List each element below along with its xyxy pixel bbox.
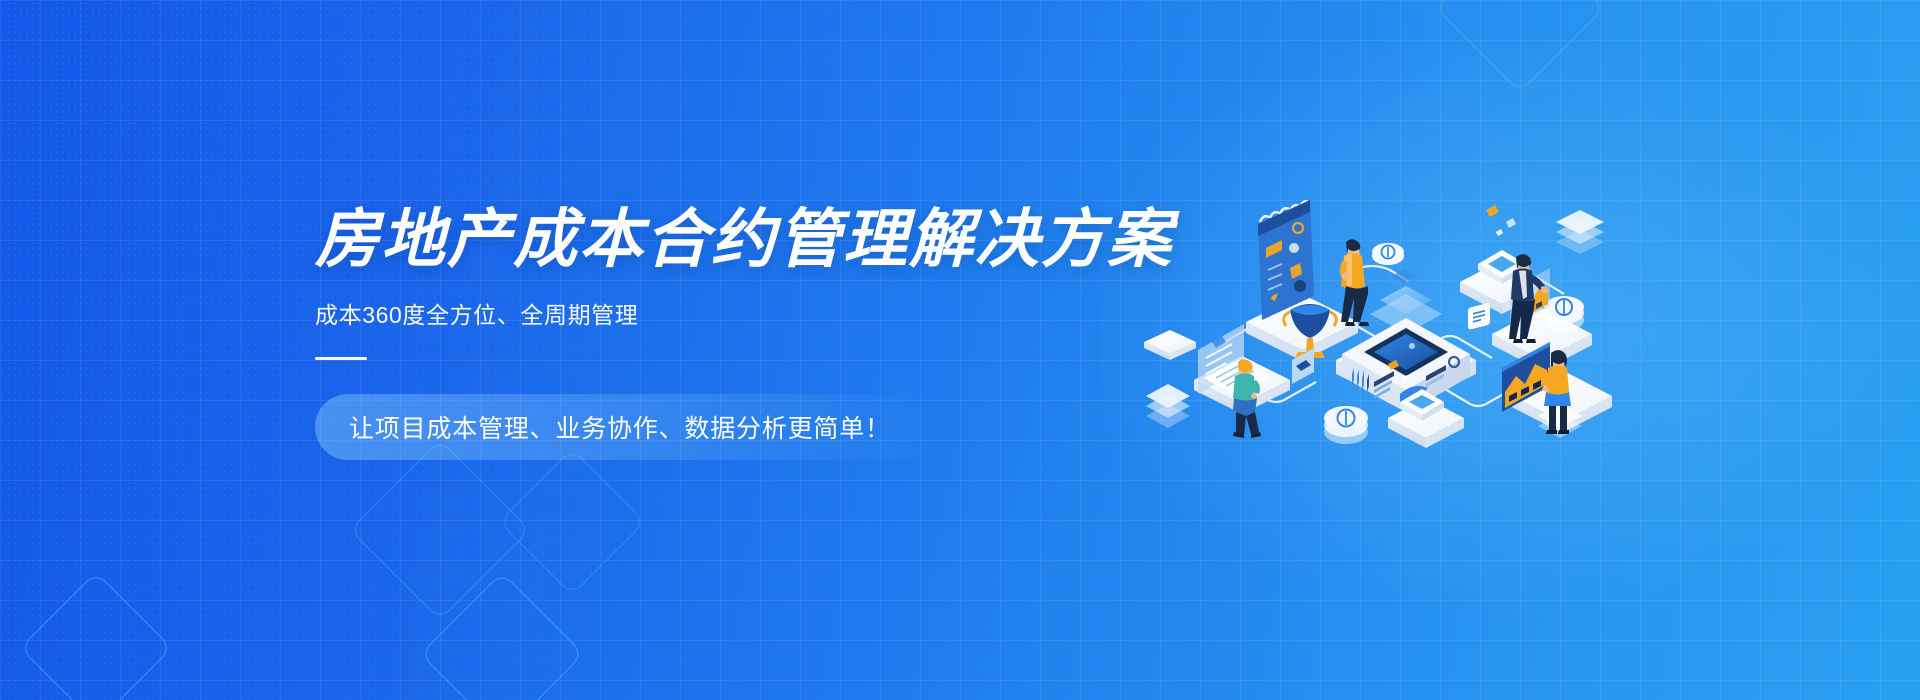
hero-copy-block: 房地产成本合约管理解决方案 成本360度全方位、全周期管理 让项目成本管理、业务… [315, 206, 1275, 460]
page-title: 房地产成本合约管理解决方案 [315, 206, 1275, 274]
diamond-outline-icon-4 [498, 448, 645, 595]
divider [315, 357, 367, 360]
person-standing-orange [1340, 239, 1369, 326]
note-card-icon [1468, 303, 1490, 330]
diamond-outline-icon-5 [1435, 0, 1605, 93]
tagline-badge: 让项目成本管理、业务协作、数据分析更简单！ [315, 394, 943, 460]
hero-banner: 房地产成本合约管理解决方案 成本360度全方位、全周期管理 让项目成本管理、业务… [0, 0, 1920, 700]
diamond-outline-icon-1 [20, 572, 173, 700]
dollar-coin-stack [1372, 243, 1404, 265]
isometric-cost-management-illustration [1140, 150, 1620, 450]
floating-sheet-stack [1556, 210, 1604, 254]
page-subtitle: 成本360度全方位、全周期管理 [315, 296, 1275, 330]
dollar-coin-stack [1324, 406, 1368, 444]
diamond-outline-icon-3 [420, 572, 584, 700]
diamond-outline-icon-2 [349, 439, 530, 620]
floating-sheet-stack [1146, 384, 1190, 428]
